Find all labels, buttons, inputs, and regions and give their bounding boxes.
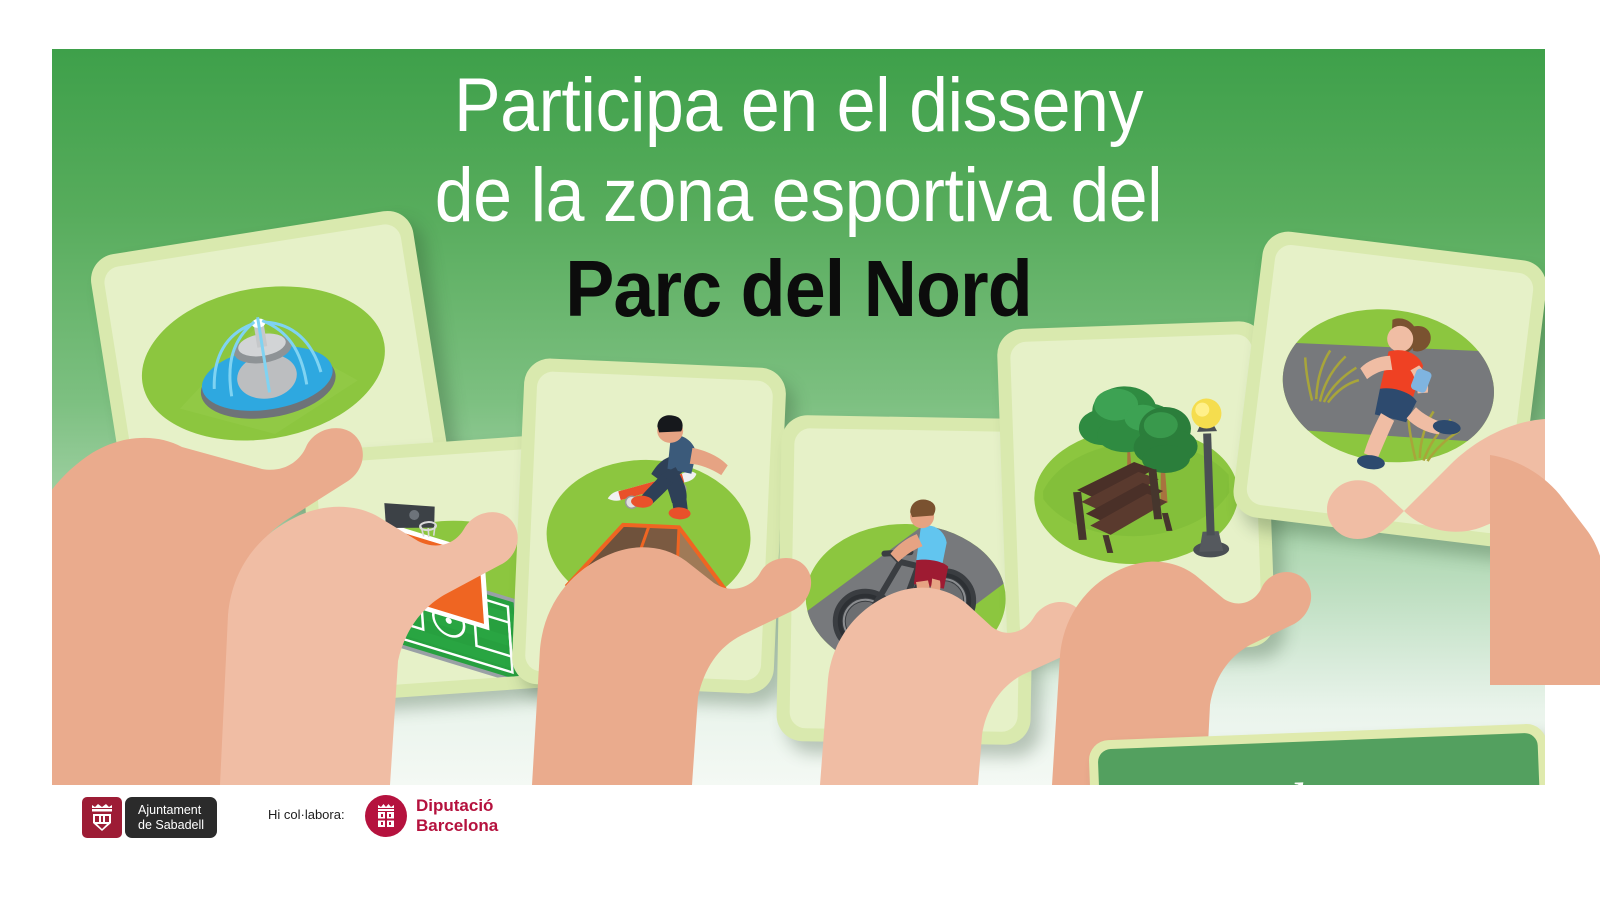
title-line-1: Participa en el disseny [112, 61, 1486, 151]
poster-canvas: Participa en el disseny de la zona espor… [0, 0, 1600, 900]
sabadell-shield-icon [82, 797, 122, 838]
ajuntament-line-2: de Sabadell [138, 818, 204, 833]
card-bike-lane[interactable] [776, 415, 1036, 745]
card-bike-inner [789, 428, 1022, 732]
cta-banner[interactable]: Fes la teva aportació! [1088, 723, 1545, 785]
card-skate-inner [525, 371, 774, 681]
cta-line-1: Fes la teva [1186, 765, 1454, 785]
diputacio-line-1: Diputació [416, 796, 498, 816]
card-bench-inner [1010, 334, 1262, 642]
ajuntament-logo[interactable]: Ajuntament de Sabadell [82, 797, 217, 838]
diputacio-logo[interactable]: Diputació Barcelona [365, 795, 498, 837]
diputacio-line-2: Barcelona [416, 816, 498, 836]
cta-inner: Fes la teva aportació! [1098, 733, 1545, 785]
ajuntament-label-box: Ajuntament de Sabadell [125, 797, 217, 838]
card-skatepark[interactable] [511, 357, 787, 694]
diputacio-shield-icon [365, 795, 407, 837]
ajuntament-line-1: Ajuntament [138, 803, 204, 818]
diputacio-label-box: Diputació Barcelona [416, 796, 498, 836]
cta-text: Fes la teva aportació! [1186, 765, 1456, 785]
hero-panel: Participa en el disseny de la zona espor… [52, 49, 1545, 785]
footer: Ajuntament de Sabadell Hi col·labora: [0, 785, 1600, 900]
collaborates-label: Hi col·labora: [268, 807, 345, 822]
